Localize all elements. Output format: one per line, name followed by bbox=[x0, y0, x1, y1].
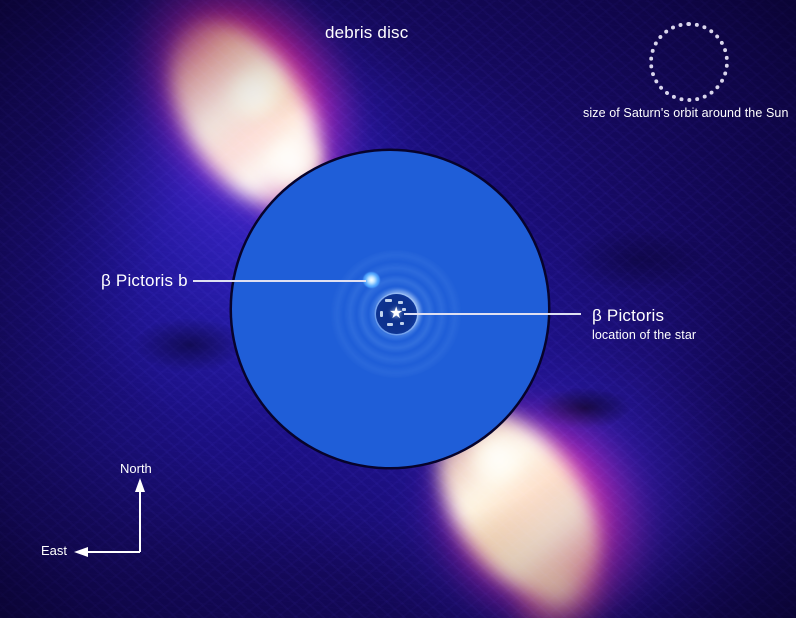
compass-north-arrowhead bbox=[135, 478, 145, 492]
compass-east-label: East bbox=[41, 543, 67, 558]
compass-east-arrowhead bbox=[74, 547, 88, 557]
compass-rose bbox=[0, 0, 796, 618]
compass-north-label: North bbox=[120, 461, 152, 476]
image-canvas: ★ debris disc β Pictoris b β Pictoris lo… bbox=[0, 0, 796, 618]
